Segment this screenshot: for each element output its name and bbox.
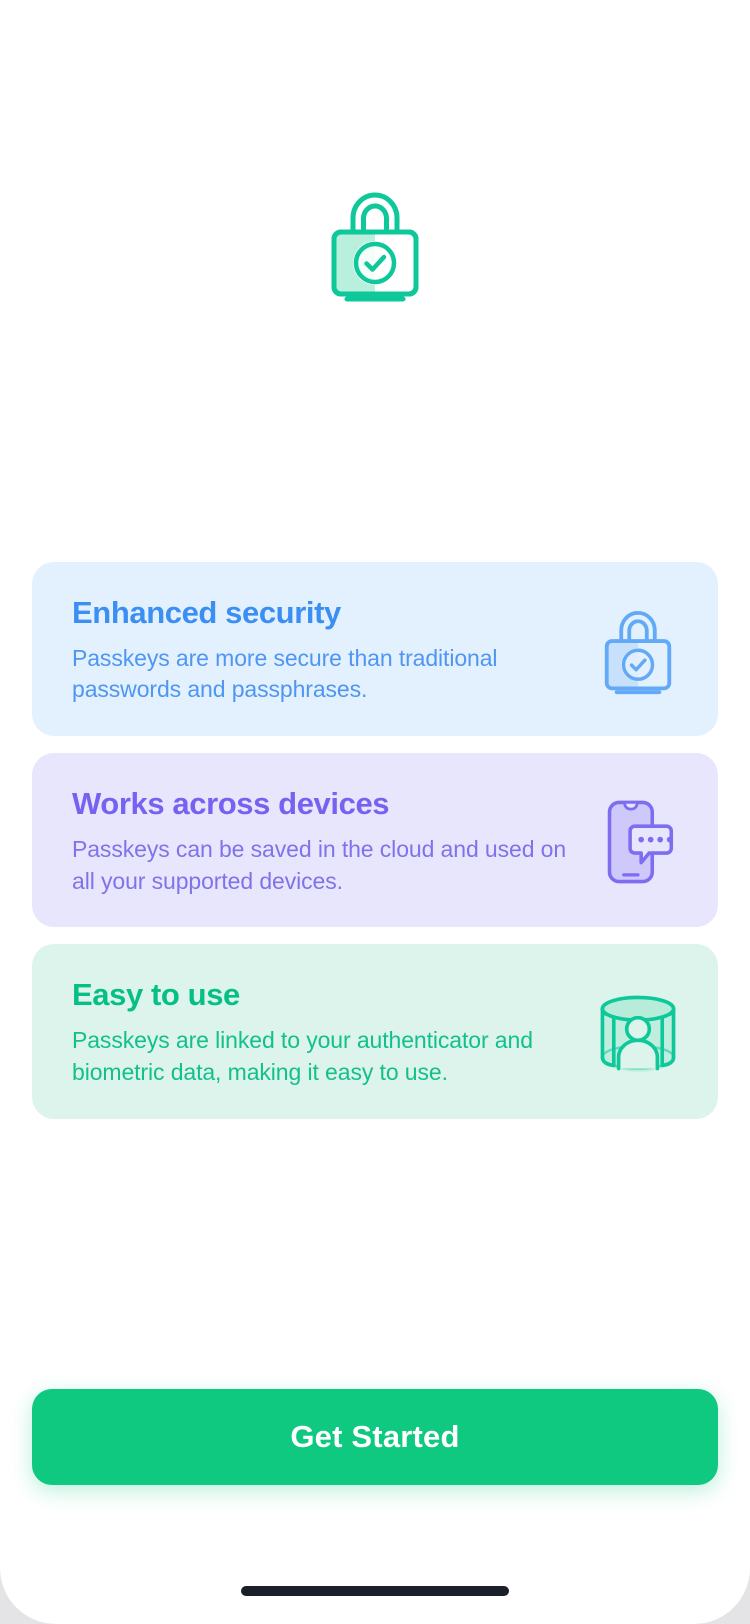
phone-chat-icon xyxy=(596,796,680,888)
feature-card-list: Enhanced security Passkeys are more secu… xyxy=(32,562,718,1119)
app-screen: Enhanced security Passkeys are more secu… xyxy=(0,0,750,1624)
hero-illustration xyxy=(0,186,750,304)
card-body: Passkeys are linked to your authenticato… xyxy=(72,1025,580,1088)
card-text-block: Works across devices Passkeys can be sav… xyxy=(72,787,596,897)
card-title: Easy to use xyxy=(72,978,580,1013)
card-body: Passkeys can be saved in the cloud and u… xyxy=(72,834,580,897)
lock-check-icon xyxy=(596,605,680,697)
get-started-button[interactable]: Get Started xyxy=(32,1389,718,1485)
person-in-cylinder-icon xyxy=(596,987,680,1079)
feature-card-works-across-devices[interactable]: Works across devices Passkeys can be sav… xyxy=(32,753,718,927)
card-text-block: Easy to use Passkeys are linked to your … xyxy=(72,978,596,1088)
cta-container: Get Started xyxy=(32,1389,718,1485)
lock-check-icon xyxy=(327,186,423,304)
feature-card-easy-to-use[interactable]: Easy to use Passkeys are linked to your … xyxy=(32,944,718,1118)
card-title: Enhanced security xyxy=(72,596,580,631)
home-indicator[interactable] xyxy=(241,1586,509,1596)
feature-card-enhanced-security[interactable]: Enhanced security Passkeys are more secu… xyxy=(32,562,718,736)
card-title: Works across devices xyxy=(72,787,580,822)
card-body: Passkeys are more secure than traditiona… xyxy=(72,643,580,706)
card-text-block: Enhanced security Passkeys are more secu… xyxy=(72,596,596,706)
